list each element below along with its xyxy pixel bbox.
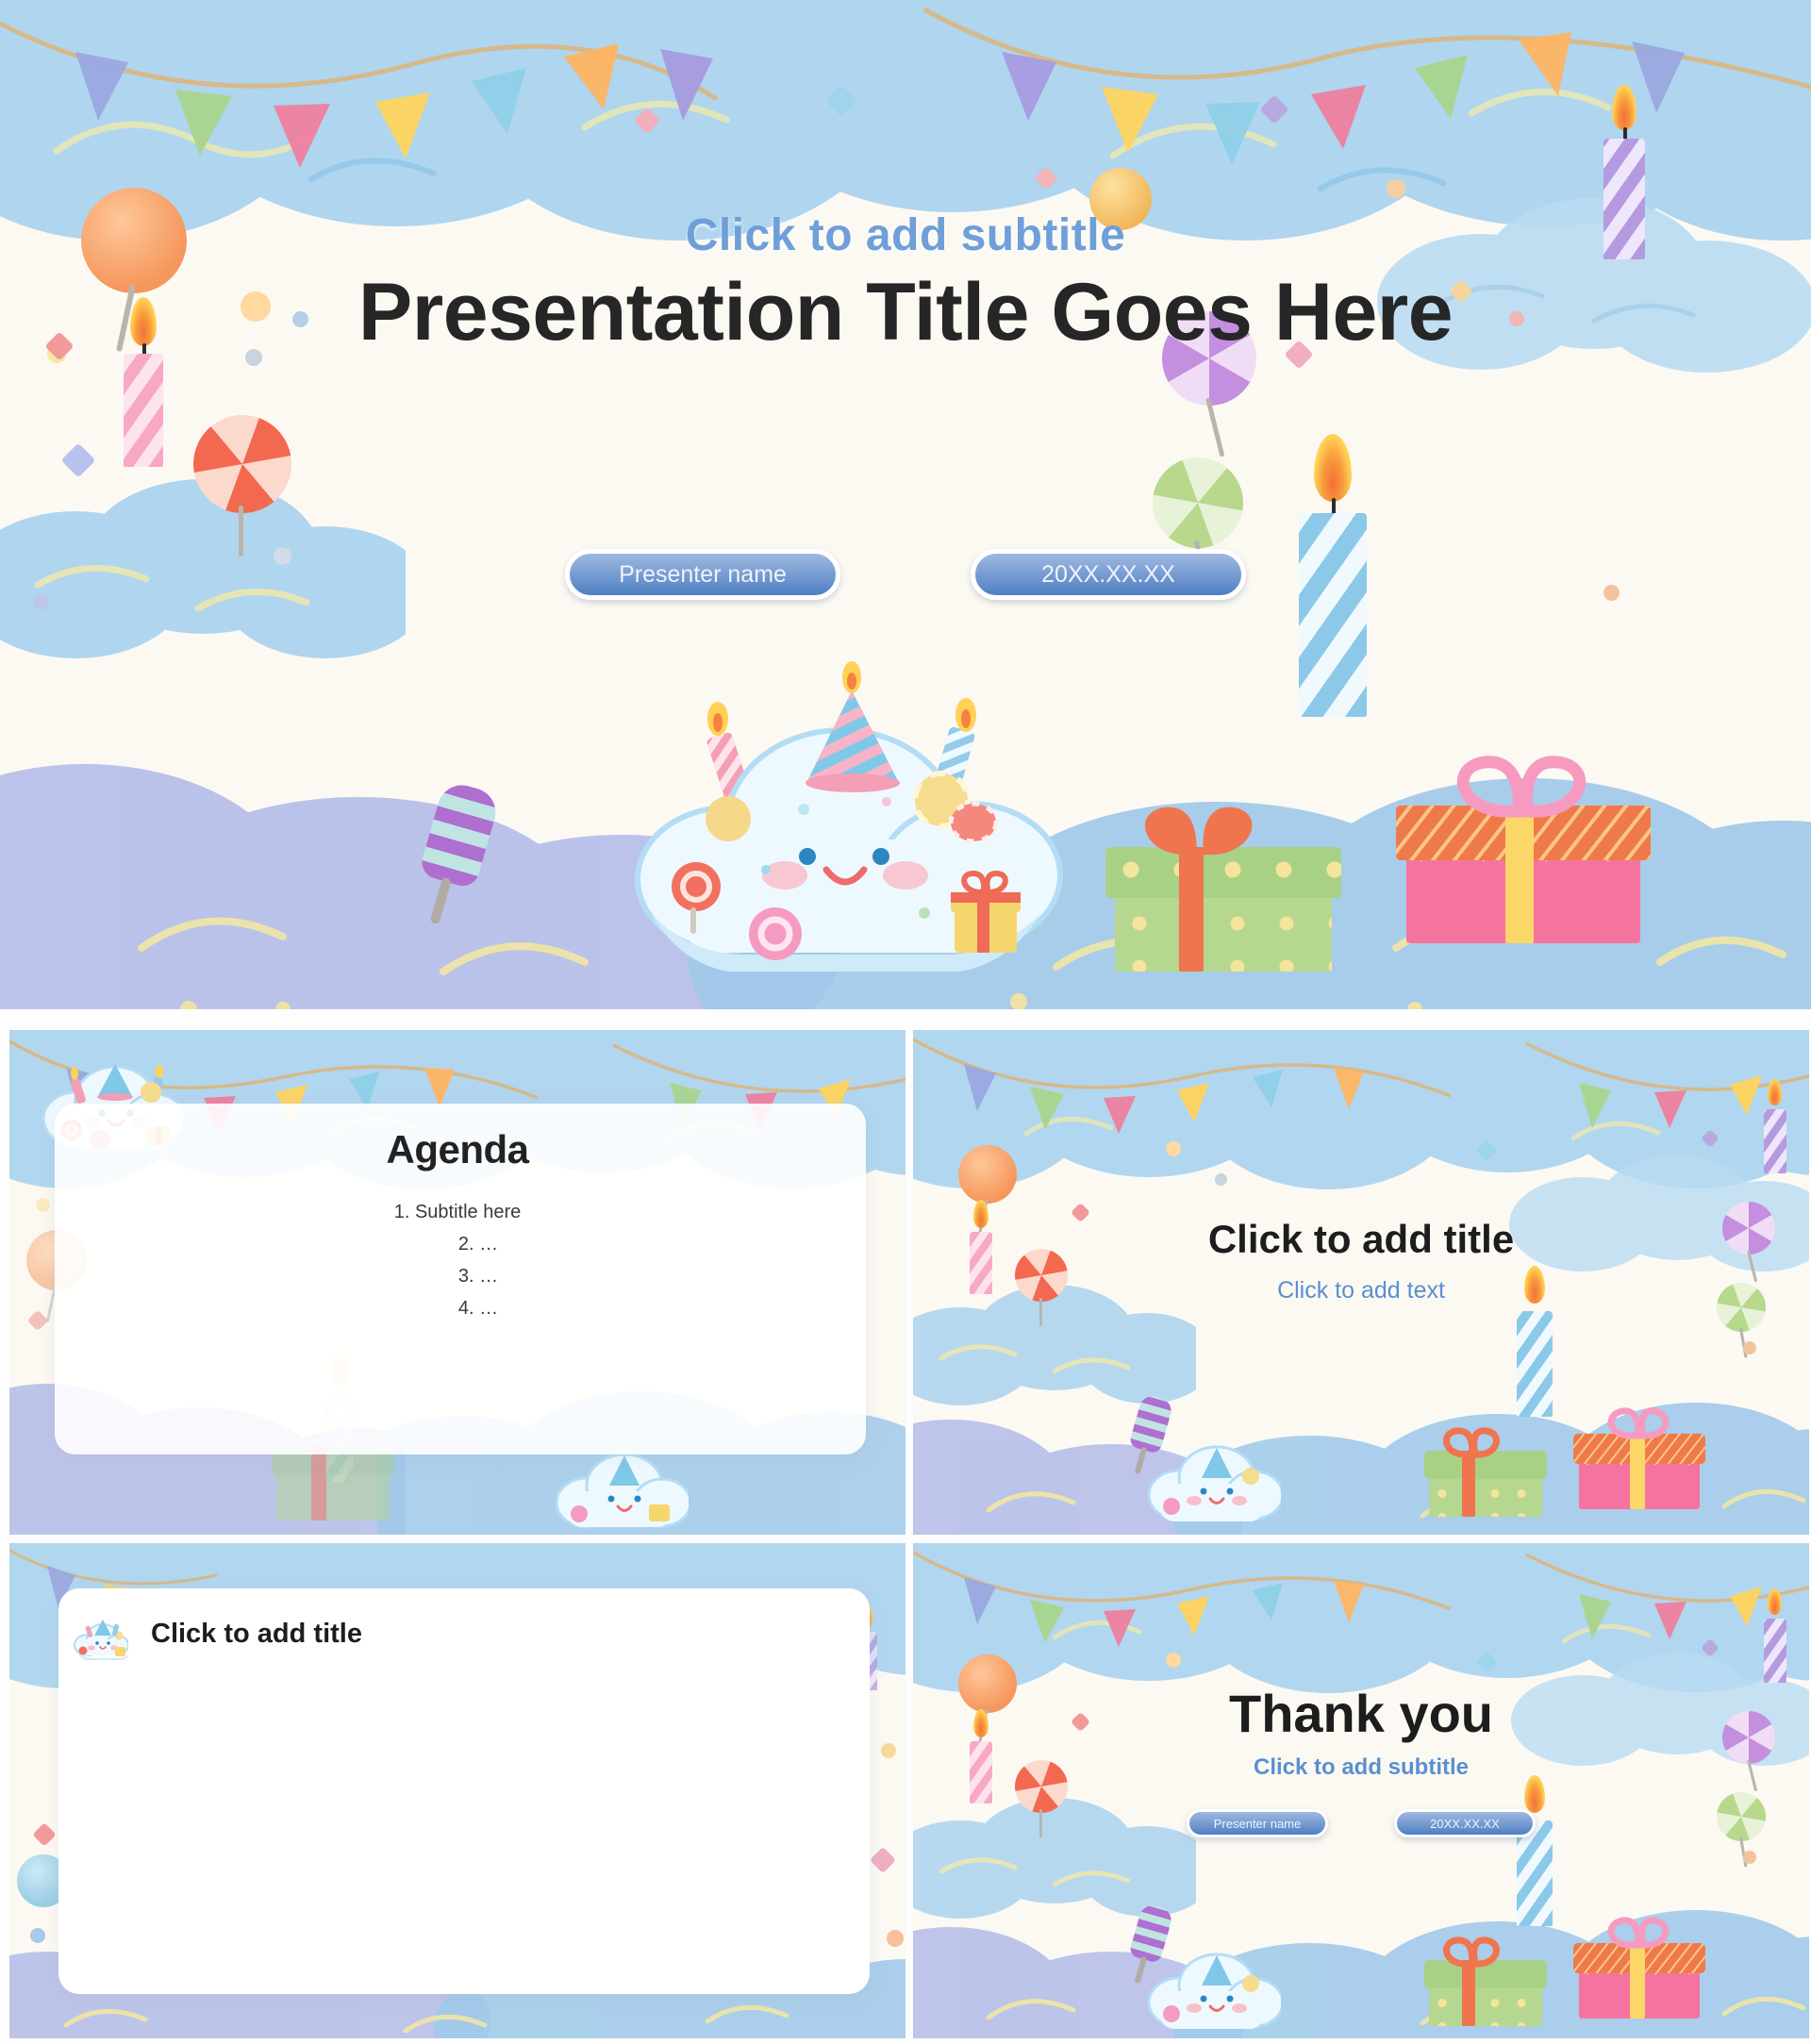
presenter-name-pill[interactable]: Presenter name xyxy=(1187,1809,1328,1837)
lollipop-icon xyxy=(193,415,291,513)
confetti-dot xyxy=(30,1928,45,1943)
confetti-dot xyxy=(1743,1851,1756,1864)
lollipop-icon xyxy=(958,1145,1017,1204)
cloud-face-icon xyxy=(1139,1938,1281,2036)
confetti-dot xyxy=(1215,1173,1227,1186)
date-label: 20XX.XX.XX xyxy=(1041,561,1175,589)
confetti-dot xyxy=(881,1743,896,1758)
confetti-dot xyxy=(1166,1141,1181,1156)
thank-you-subtitle[interactable]: Click to add subtitle xyxy=(913,1754,1809,1781)
lollipop-icon xyxy=(1153,457,1243,548)
title-slide-background xyxy=(0,0,1811,1009)
title-slide-pill-row: Presenter name 20XX.XX.XX xyxy=(0,549,1811,600)
date-pill[interactable]: 20XX.XX.XX xyxy=(971,549,1246,600)
cloud-face-icon xyxy=(72,1615,128,1660)
confetti-dot xyxy=(1387,179,1405,198)
cloud-face-icon xyxy=(547,1440,689,1535)
confetti-dot xyxy=(1166,1653,1181,1668)
gift-box-icon xyxy=(1105,802,1341,972)
section-slide-body-text[interactable]: Click to add text xyxy=(913,1277,1809,1305)
page-title[interactable]: Presentation Title Goes Here xyxy=(0,266,1811,359)
birthday-candle-icon xyxy=(1764,1588,1786,1683)
confetti-dot xyxy=(887,1930,904,1947)
title-slide-subtitle[interactable]: Click to add subtitle xyxy=(0,209,1811,261)
birthday-candle-icon xyxy=(1764,1079,1786,1173)
gift-box-icon xyxy=(1573,1917,1705,2019)
agenda-list: 1. Subtitle here 2. … 3. … 4. … xyxy=(9,1202,905,1320)
slide-deck: Click to add subtitle Presentation Title… xyxy=(0,0,1811,2044)
birthday-candle-icon xyxy=(1517,1775,1553,1926)
confetti-dot xyxy=(1743,1341,1756,1354)
date-label: 20XX.XX.XX xyxy=(1430,1817,1500,1831)
page-title[interactable]: Agenda xyxy=(9,1127,905,1172)
thank-you-pill-row: Presenter name 20XX.XX.XX xyxy=(913,1809,1809,1837)
section-title-slide[interactable]: Click to add title Click to add text xyxy=(913,1030,1809,1535)
cloud-face-icon xyxy=(1139,1431,1281,1529)
list-item[interactable]: 3. … xyxy=(9,1266,905,1288)
content-slide[interactable]: Click to add title xyxy=(9,1543,905,2038)
page-title[interactable]: Click to add title xyxy=(913,1217,1809,1262)
gift-box-icon xyxy=(1424,1936,1547,2026)
page-title[interactable]: Thank you xyxy=(913,1683,1809,1744)
gift-bow-icon xyxy=(1396,749,1651,826)
page-title[interactable]: Click to add title xyxy=(151,1619,362,1650)
presenter-name-pill[interactable]: Presenter name xyxy=(565,549,840,600)
thank-you-slide-background xyxy=(913,1543,1809,2038)
agenda-slide[interactable]: Agenda 1. Subtitle here 2. … 3. … 4. … xyxy=(9,1030,905,1535)
date-pill[interactable]: 20XX.XX.XX xyxy=(1394,1809,1536,1837)
cloud-face-icon xyxy=(623,660,1066,972)
gift-box-icon xyxy=(1573,1407,1705,1509)
gift-box-icon xyxy=(1396,755,1651,943)
list-item[interactable]: 2. … xyxy=(9,1234,905,1255)
presenter-name-label: Presenter name xyxy=(1214,1817,1302,1831)
thank-you-slide[interactable]: Thank you Click to add subtitle Presente… xyxy=(913,1543,1809,2038)
presenter-name-label: Presenter name xyxy=(619,561,787,589)
gift-bow-icon xyxy=(1105,796,1341,872)
gift-box-icon xyxy=(1424,1426,1547,1517)
list-item[interactable]: 1. Subtitle here xyxy=(9,1202,905,1223)
title-slide[interactable]: Click to add subtitle Presentation Title… xyxy=(0,0,1811,1009)
list-item[interactable]: 4. … xyxy=(9,1298,905,1320)
